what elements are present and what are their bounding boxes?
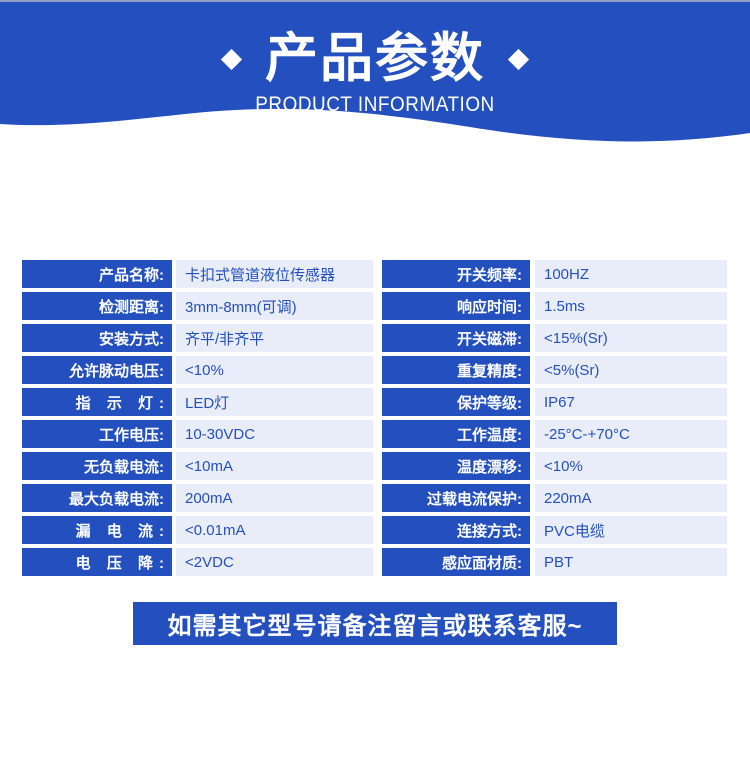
spec-row: 产品名称:卡扣式管道液位传感器	[22, 260, 373, 288]
spec-label: 开关磁滞:	[382, 324, 530, 352]
contact-service-banner-text: 如需其它型号请备注留言或联系客服~	[167, 606, 582, 641]
spec-label: 无负载电流:	[22, 452, 172, 480]
page-subtitle: PRODUCT INFORMATION	[38, 92, 713, 118]
spec-value: PBT	[535, 548, 727, 576]
spec-value: PVC电缆	[535, 516, 727, 544]
spec-value: IP67	[535, 388, 727, 416]
spec-label: 开关频率:	[382, 260, 530, 288]
spec-value: 3mm-8mm(可调)	[176, 292, 373, 320]
spec-row: 指 示 灯:LED灯	[22, 388, 373, 416]
spec-value: 卡扣式管道液位传感器	[176, 260, 373, 288]
spec-row: 检测距离:3mm-8mm(可调)	[22, 292, 373, 320]
spec-row: 重复精度:<5%(Sr)	[382, 356, 727, 384]
spec-row: 温度漂移:<10%	[382, 452, 727, 480]
spec-label: 温度漂移:	[382, 452, 530, 480]
spec-label: 感应面材质:	[382, 548, 530, 576]
page-header: 产品参数 PRODUCT INFORMATION	[0, 0, 750, 150]
spec-row: 过载电流保护:220mA	[382, 484, 727, 512]
diamond-right-icon	[508, 48, 529, 69]
spec-label: 安装方式:	[22, 324, 172, 352]
spec-label: 响应时间:	[382, 292, 530, 320]
spec-row: 允许脉动电压:<10%	[22, 356, 373, 384]
spec-value: <2VDC	[176, 548, 373, 576]
spec-label: 漏 电 流:	[22, 516, 172, 544]
spec-label: 过载电流保护:	[382, 484, 530, 512]
spec-row: 最大负载电流:200mA	[22, 484, 373, 512]
spec-value: 10-30VDC	[176, 420, 373, 448]
spec-row: 安装方式:齐平/非齐平	[22, 324, 373, 352]
diamond-left-icon	[221, 48, 242, 69]
spec-table-left-column: 产品名称:卡扣式管道液位传感器检测距离:3mm-8mm(可调)安装方式:齐平/非…	[22, 260, 373, 580]
spec-table-right-column: 开关频率:100HZ响应时间:1.5ms开关磁滞:<15%(Sr)重复精度:<5…	[382, 260, 727, 580]
spec-value: 220mA	[535, 484, 727, 512]
top-hairline	[0, 0, 750, 2]
spec-label: 检测距离:	[22, 292, 172, 320]
header-title-row: 产品参数	[0, 26, 750, 92]
spec-label: 产品名称:	[22, 260, 172, 288]
spec-value: 100HZ	[535, 260, 727, 288]
spec-value: <10%	[176, 356, 373, 384]
spec-row: 响应时间:1.5ms	[382, 292, 727, 320]
spec-row: 无负载电流:<10mA	[22, 452, 373, 480]
spec-row: 电 压 降:<2VDC	[22, 548, 373, 576]
spec-label: 连接方式:	[382, 516, 530, 544]
spec-value: <5%(Sr)	[535, 356, 727, 384]
spec-value: 200mA	[176, 484, 373, 512]
spec-label: 指 示 灯:	[22, 388, 172, 416]
spec-value: <10%	[535, 452, 727, 480]
spec-row: 保护等级:IP67	[382, 388, 727, 416]
spec-label: 最大负载电流:	[22, 484, 172, 512]
spec-row: 漏 电 流:<0.01mA	[22, 516, 373, 544]
spec-value: 齐平/非齐平	[176, 324, 373, 352]
spec-label: 电 压 降:	[22, 548, 172, 576]
spec-label: 工作温度:	[382, 420, 530, 448]
spec-row: 感应面材质:PBT	[382, 548, 727, 576]
spec-row: 工作温度:-25°C-+70°C	[382, 420, 727, 448]
spec-label: 重复精度:	[382, 356, 530, 384]
spec-value: LED灯	[176, 388, 373, 416]
spec-value: 1.5ms	[535, 292, 727, 320]
spec-label: 允许脉动电压:	[22, 356, 172, 384]
contact-service-banner[interactable]: 如需其它型号请备注留言或联系客服~	[133, 602, 617, 645]
spec-row: 开关频率:100HZ	[382, 260, 727, 288]
page-title: 产品参数	[265, 28, 485, 90]
spec-row: 开关磁滞:<15%(Sr)	[382, 324, 727, 352]
spec-value: <10mA	[176, 452, 373, 480]
spec-label: 保护等级:	[382, 388, 530, 416]
spec-value: <0.01mA	[176, 516, 373, 544]
spec-row: 连接方式:PVC电缆	[382, 516, 727, 544]
spec-row: 工作电压:10-30VDC	[22, 420, 373, 448]
spec-value: <15%(Sr)	[535, 324, 727, 352]
spec-label: 工作电压:	[22, 420, 172, 448]
spec-value: -25°C-+70°C	[535, 420, 727, 448]
